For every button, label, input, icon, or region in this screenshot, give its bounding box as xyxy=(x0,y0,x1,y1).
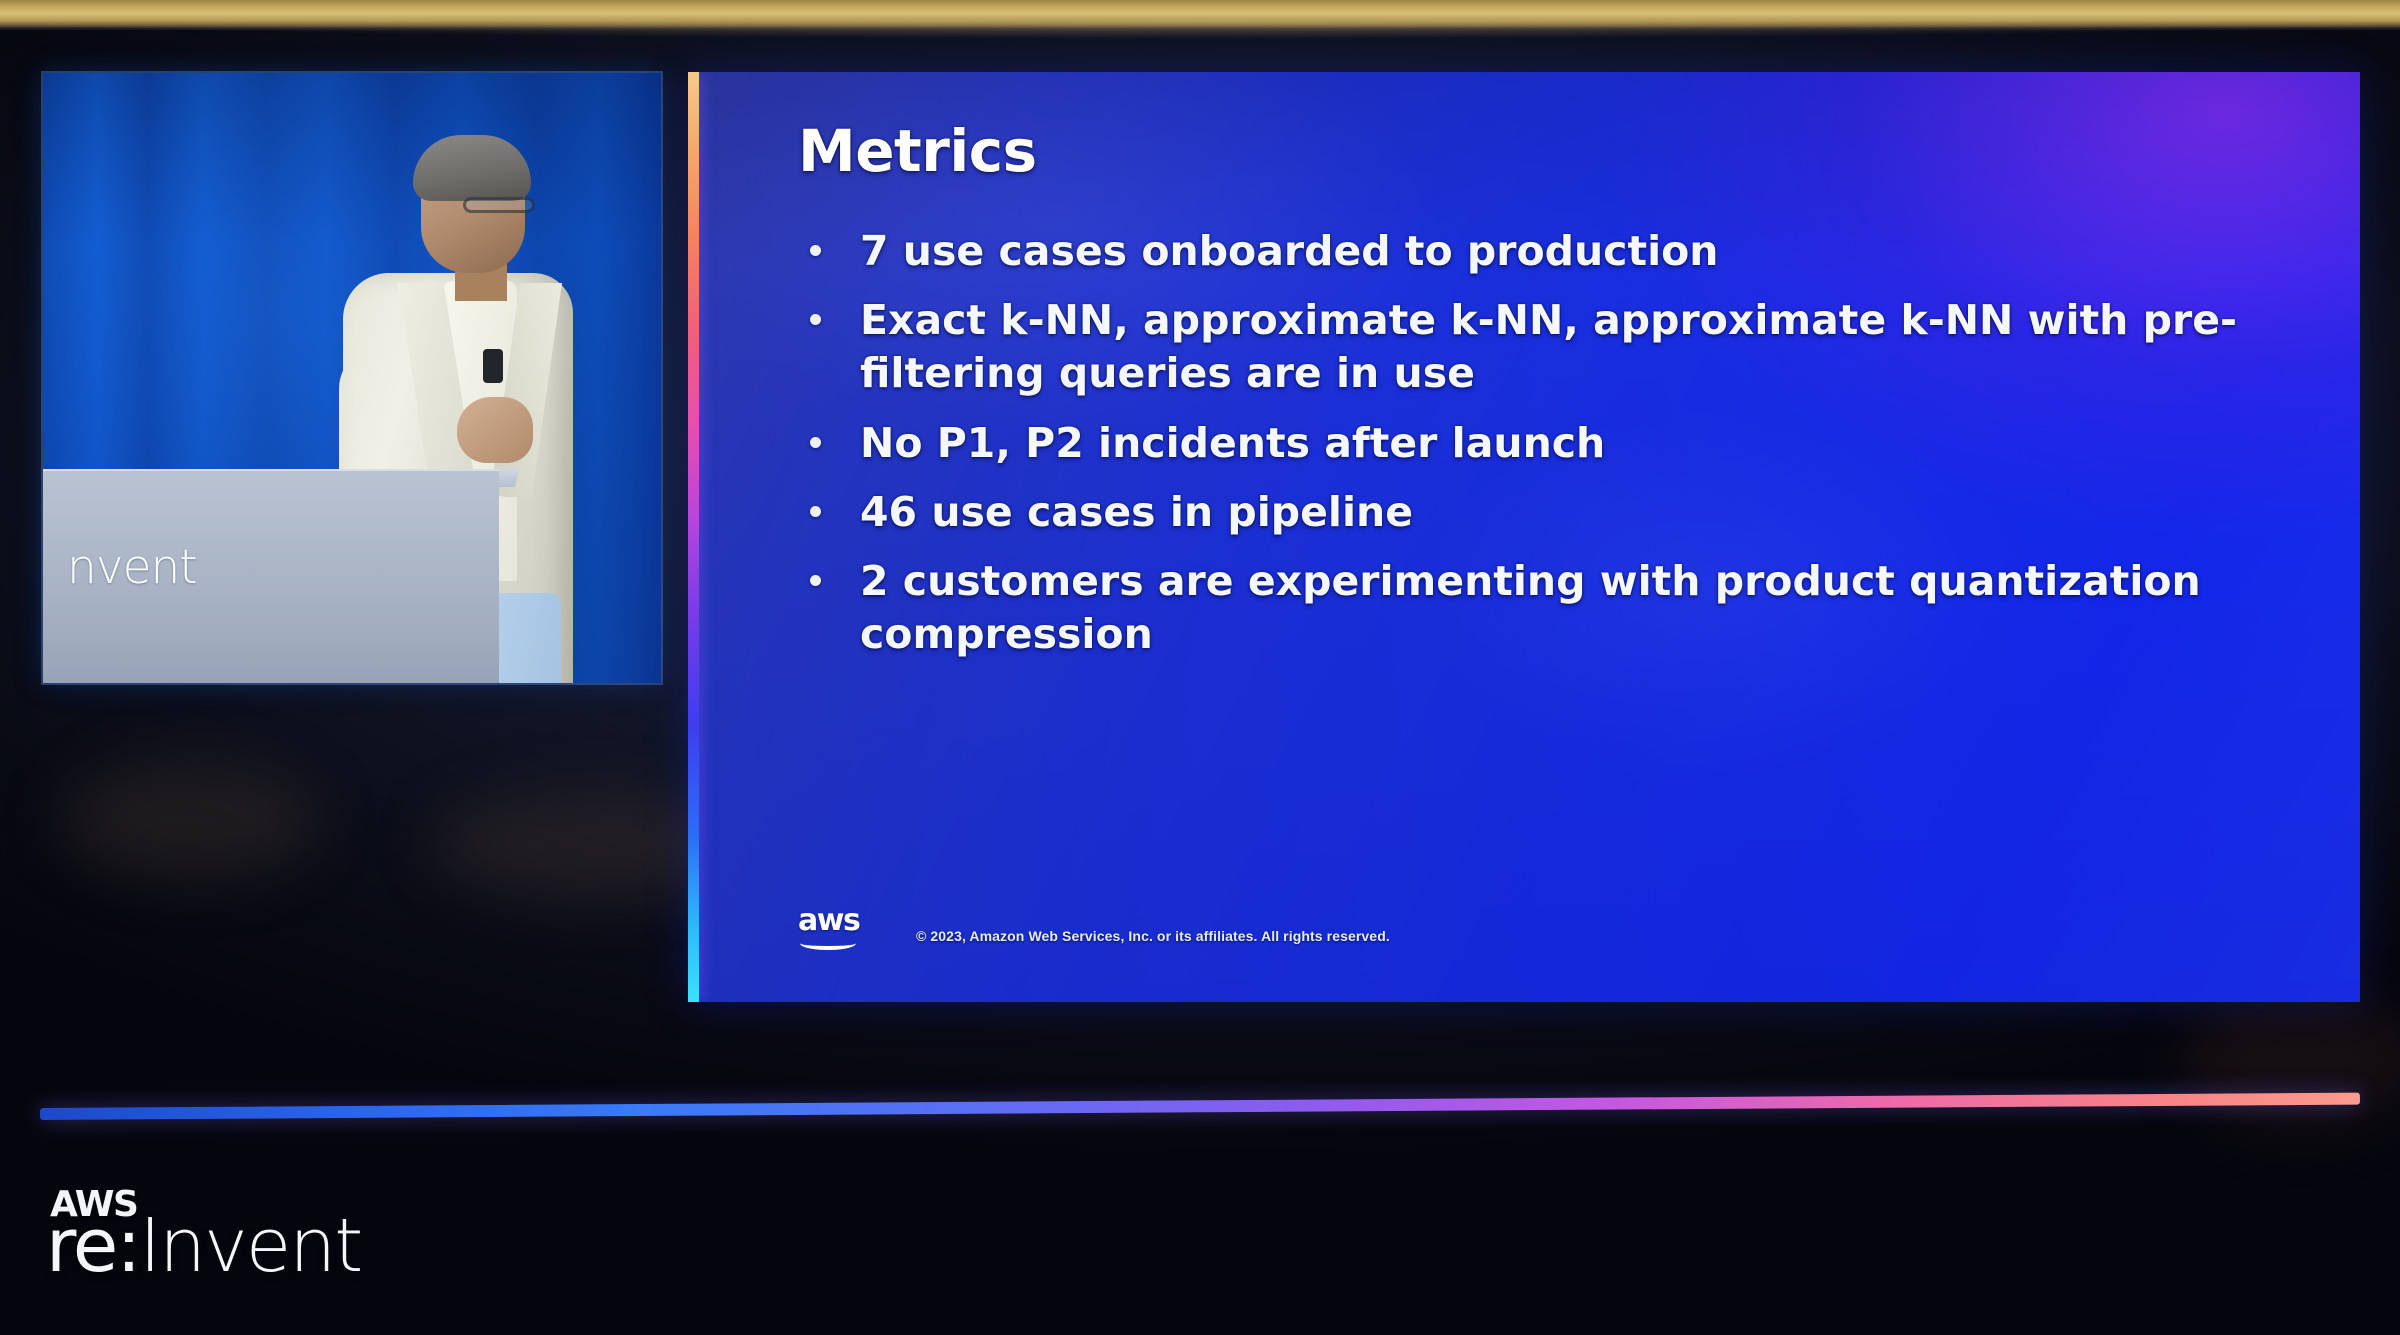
bullet-dot-icon xyxy=(810,506,821,517)
lapel-microphone-icon xyxy=(483,349,503,383)
bullet-text: 7 use cases onboarded to production xyxy=(860,227,1719,275)
bullet-dot-icon xyxy=(810,575,821,586)
slide-content: Metrics 7 use cases onboarded to product… xyxy=(798,120,2338,678)
aws-logo-icon: aws xyxy=(798,906,860,950)
reinvent-wordmark: re:Invent xyxy=(46,1209,361,1283)
aws-wordmark: aws xyxy=(798,906,860,936)
bullet-dot-icon xyxy=(810,437,821,448)
bullet-dot-icon xyxy=(810,245,821,256)
slide-title: Metrics xyxy=(798,120,2338,183)
bullet-item-4: 46 use cases in pipeline xyxy=(798,486,2268,539)
conference-room-stage: nvent Metrics 7 use cases onboarded to p… xyxy=(0,0,2400,1335)
slide-accent-bar xyxy=(688,72,699,1002)
projected-slide: Metrics 7 use cases onboarded to product… xyxy=(688,72,2360,1002)
bullet-text: No P1, P2 incidents after launch xyxy=(860,419,1605,467)
room-light-blob-right xyxy=(2180,990,2400,1130)
bullet-item-5: 2 customers are experimenting with produ… xyxy=(798,555,2268,662)
bullet-text: 46 use cases in pipeline xyxy=(860,488,1413,536)
podium: nvent xyxy=(43,469,499,683)
reinvent-re-prefix: re: xyxy=(46,1203,139,1289)
bullet-dot-icon xyxy=(810,314,821,325)
podium-reinvent-logo-text: nvent xyxy=(67,540,197,595)
bullet-item-2: Exact k-NN, approximate k-NN, approximat… xyxy=(798,294,2268,401)
slide-footer: aws © 2023, Amazon Web Services, Inc. or… xyxy=(798,906,1390,950)
room-light-blob-left xyxy=(60,760,320,880)
reinvent-invent-word: Invent xyxy=(139,1203,361,1289)
presenter-hand xyxy=(457,397,533,463)
copyright-notice: © 2023, Amazon Web Services, Inc. or its… xyxy=(916,928,1390,950)
stage-gradient-rule xyxy=(40,1093,2360,1120)
speaker-video-panel: nvent xyxy=(43,73,661,683)
bullet-text: 2 customers are experimenting with produ… xyxy=(860,557,2201,658)
presenter-glasses-icon xyxy=(463,197,535,213)
bullet-item-3: No P1, P2 incidents after launch xyxy=(798,417,2268,470)
bullet-item-1: 7 use cases onboarded to production xyxy=(798,225,2268,278)
reinvent-brand-lockup: AWS re:Invent xyxy=(32,1185,406,1281)
bullet-text: Exact k-NN, approximate k-NN, approximat… xyxy=(860,296,2237,397)
slide-bullet-list: 7 use cases onboarded to production Exac… xyxy=(798,225,2338,662)
venue-ceiling-strip xyxy=(0,0,2400,30)
aws-smile-swoosh-icon xyxy=(800,936,856,950)
